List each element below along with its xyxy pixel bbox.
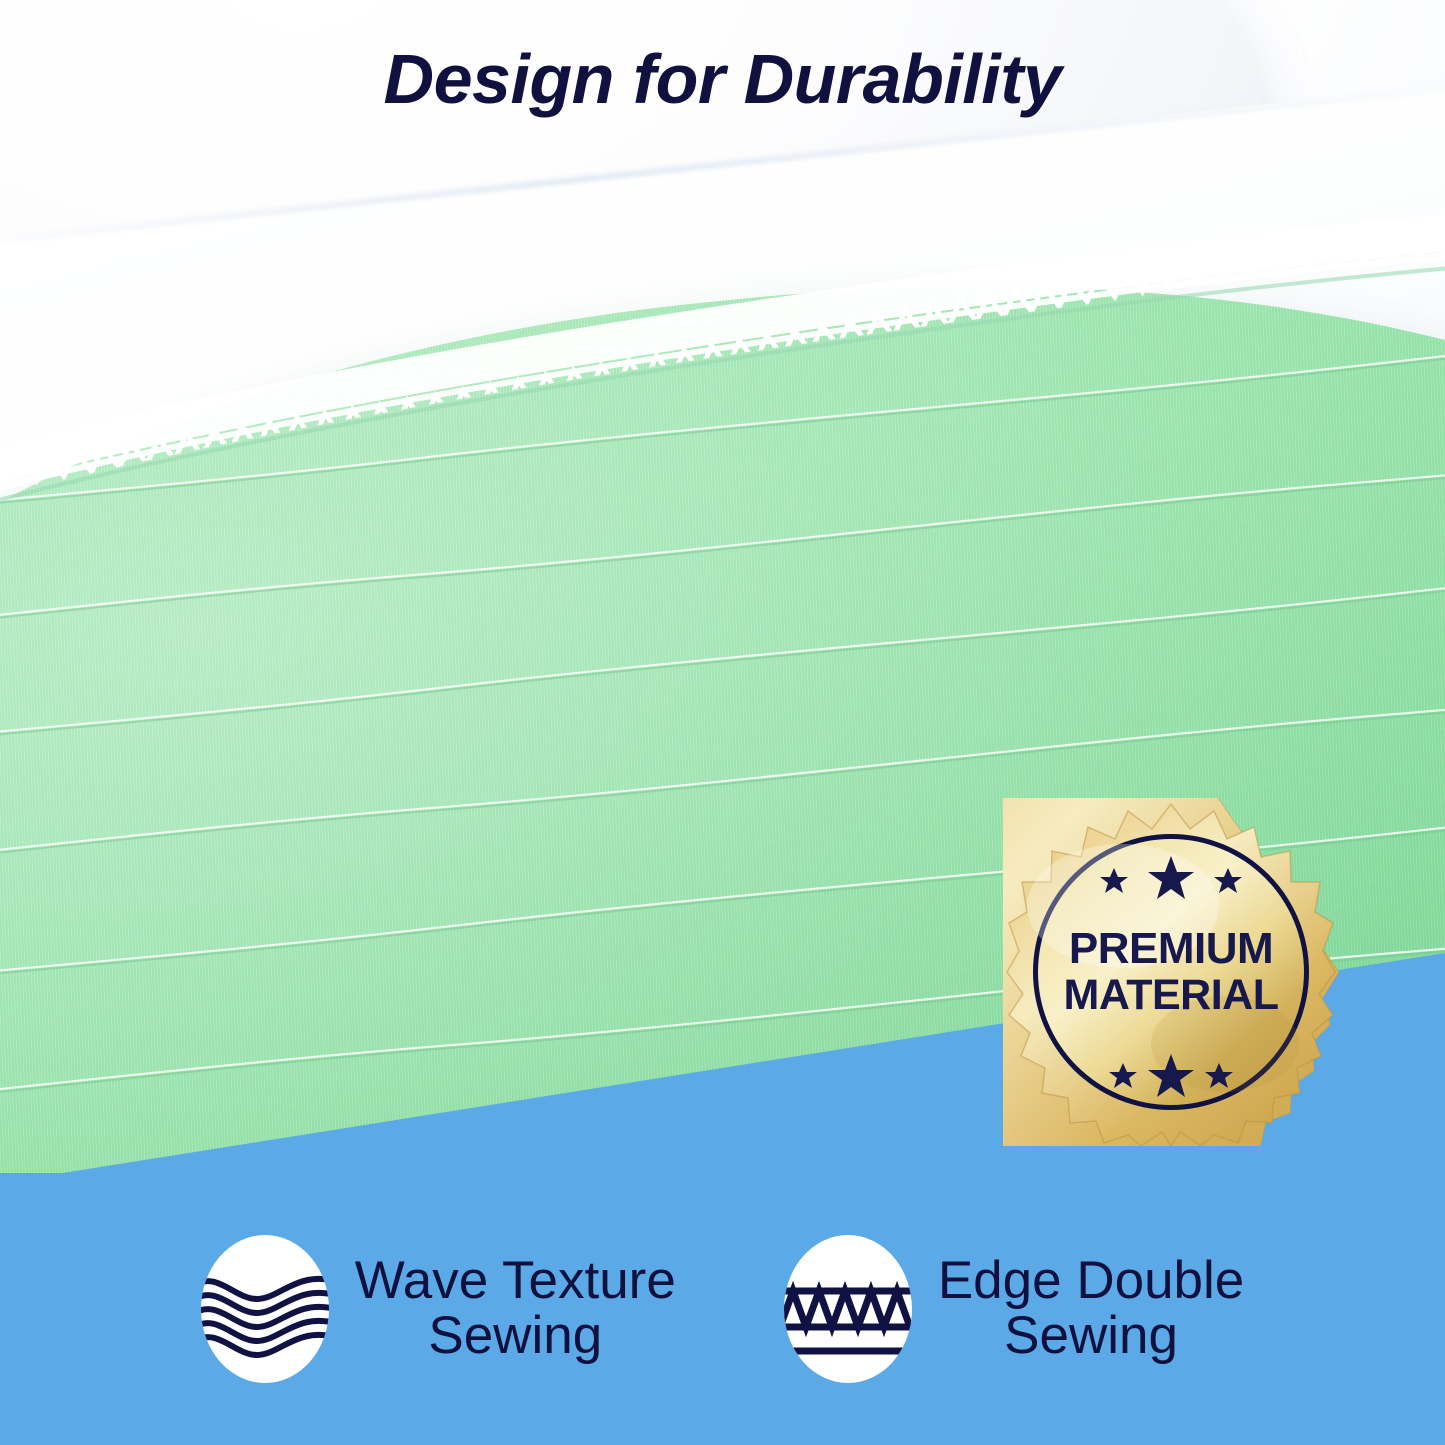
premium-material-badge: PREMIUM MATERIAL	[1003, 798, 1339, 1146]
product-marketing-image: Design for Durability	[0, 0, 1445, 1445]
feature-label-wave-texture: Wave Texture Sewing	[355, 1254, 676, 1363]
feature-wave-texture-sewing: Wave Texture Sewing	[201, 1235, 676, 1383]
wave-lines-icon	[201, 1235, 329, 1383]
page-title: Design for Durability	[0, 44, 1445, 114]
feature-row: Wave Texture Sewing Edge Double Sewing	[0, 1173, 1445, 1445]
feature-label-edge-double: Edge Double Sewing	[938, 1254, 1244, 1363]
badge-sheen	[1027, 844, 1219, 968]
badge-seal-graphic	[1003, 798, 1339, 1146]
zigzag-stitch-icon	[784, 1235, 912, 1383]
feature-edge-double-sewing: Edge Double Sewing	[784, 1235, 1244, 1383]
